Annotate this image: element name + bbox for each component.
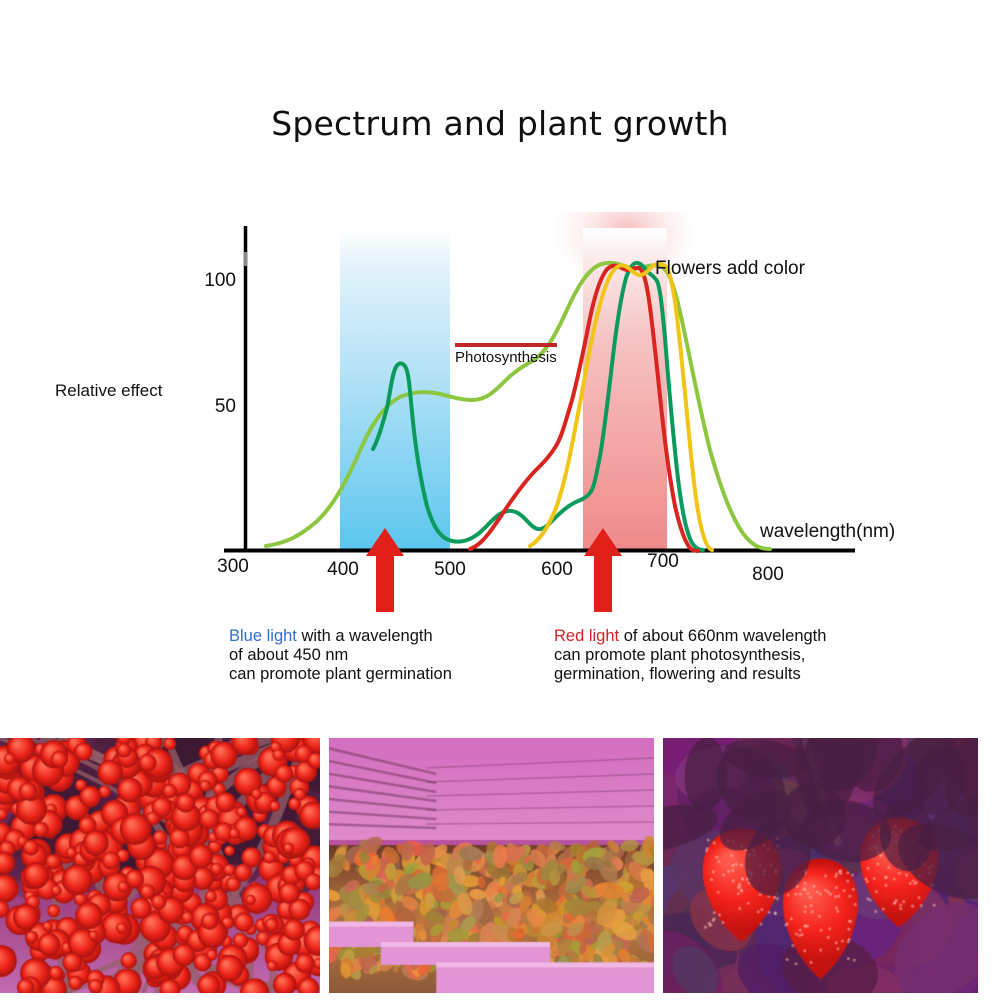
page-root: Spectrum and plant growth: [0, 0, 1000, 1000]
caption-blue-line3: can promote plant germination: [229, 665, 452, 684]
caption-red-line2: can promote plant photosynthesis,: [554, 646, 826, 665]
photo-lettuce-greenhouse: [329, 738, 654, 993]
caption-red-line3: germination, flowering and results: [554, 665, 826, 684]
x-tick-600: 600: [527, 559, 587, 581]
caption-blue-line2: of about 450 nm: [229, 646, 452, 665]
x-tick-500: 500: [420, 559, 480, 581]
blue-light-band: [340, 228, 450, 550]
y-axis-label: Relative effect: [55, 381, 162, 401]
y-tick-50: 50: [176, 396, 236, 418]
spectrum-chart: Relative effect wavelength(nm) 100 50 30…: [0, 0, 1000, 720]
photo-tomatoes-under-grow-light: [0, 738, 320, 993]
caption-blue-line1: Blue light with a wavelength: [229, 627, 452, 646]
caption-red-light: Red light of about 660nm wavelength can …: [554, 627, 826, 684]
caption-red-line1: Red light of about 660nm wavelength: [554, 627, 826, 646]
caption-blue-light: Blue light with a wavelength of about 45…: [229, 627, 452, 684]
x-tick-700: 700: [633, 551, 693, 573]
x-axis-label: wavelength(nm): [760, 521, 895, 543]
caption-red-line1-rest: of about 660nm wavelength: [619, 627, 826, 645]
annotation-photosynthesis: Photosynthesis: [455, 343, 557, 366]
caption-blue-keyword: Blue light: [229, 627, 297, 645]
x-tick-400: 400: [313, 559, 373, 581]
caption-blue-line1-rest: with a wavelength: [297, 627, 433, 645]
photo-strawberries-under-grow-light: [663, 738, 978, 993]
x-tick-800: 800: [738, 564, 798, 586]
y-tick-100: 100: [176, 270, 236, 292]
photo-strip: [0, 738, 1000, 995]
x-tick-300: 300: [203, 556, 263, 578]
annotation-flowers-add-color: Flowers add color: [655, 258, 805, 280]
caption-red-keyword: Red light: [554, 627, 619, 645]
